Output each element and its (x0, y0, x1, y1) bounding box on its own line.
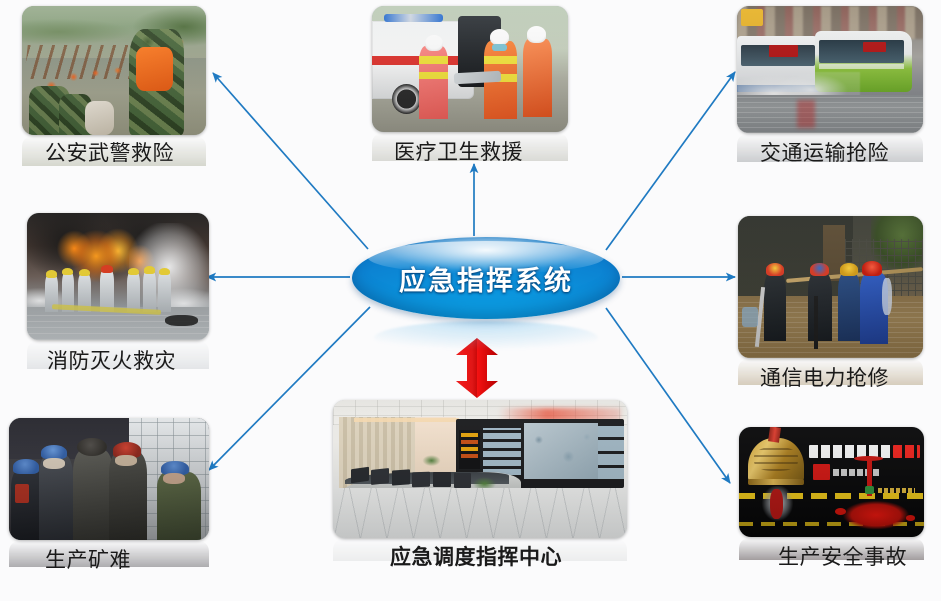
label-police: 公安武警救险 (45, 143, 174, 164)
node-safety[interactable]: 生产安全事故 (739, 427, 924, 560)
label-medical: 医疗卫生救援 (394, 142, 523, 163)
photo-utility (738, 216, 923, 358)
photo-mine (9, 418, 209, 540)
center-ellipse[interactable]: 应急指挥系统 (352, 237, 620, 319)
node-medical[interactable]: 医疗卫生救援 (372, 6, 568, 161)
label-safety: 生产安全事故 (778, 547, 907, 568)
arrow-to-transport (606, 72, 735, 250)
label-command: 应急调度指挥中心 (390, 547, 562, 568)
node-mine[interactable]: 生产矿难 (9, 418, 209, 567)
node-command[interactable]: 应急调度指挥中心 (333, 400, 627, 561)
node-police[interactable]: 公安武警救险 (22, 6, 206, 166)
photo-fire (27, 213, 209, 340)
center-reflection (374, 321, 598, 355)
label-mine: 生产矿难 (45, 550, 131, 571)
label-transport: 交通运输抢险 (760, 143, 889, 164)
label-fire: 消防灭火救灾 (47, 351, 176, 372)
photo-police (22, 6, 206, 135)
photo-transport (737, 6, 923, 133)
node-fire[interactable]: 消防灭火救灾 (27, 213, 209, 369)
arrow-to-police (213, 73, 368, 249)
photo-command (333, 400, 627, 538)
center-node[interactable]: 应急指挥系统 (352, 237, 620, 319)
photo-safety (739, 427, 924, 537)
center-label: 应急指挥系统 (352, 237, 620, 319)
node-utility[interactable]: 通信电力抢修 (738, 216, 923, 385)
diagram-canvas: 应急指挥系统 公安武警救险 (0, 0, 941, 601)
label-utility: 通信电力抢修 (760, 368, 889, 389)
photo-medical (372, 6, 568, 132)
node-transport[interactable]: 交通运输抢险 (737, 6, 923, 162)
